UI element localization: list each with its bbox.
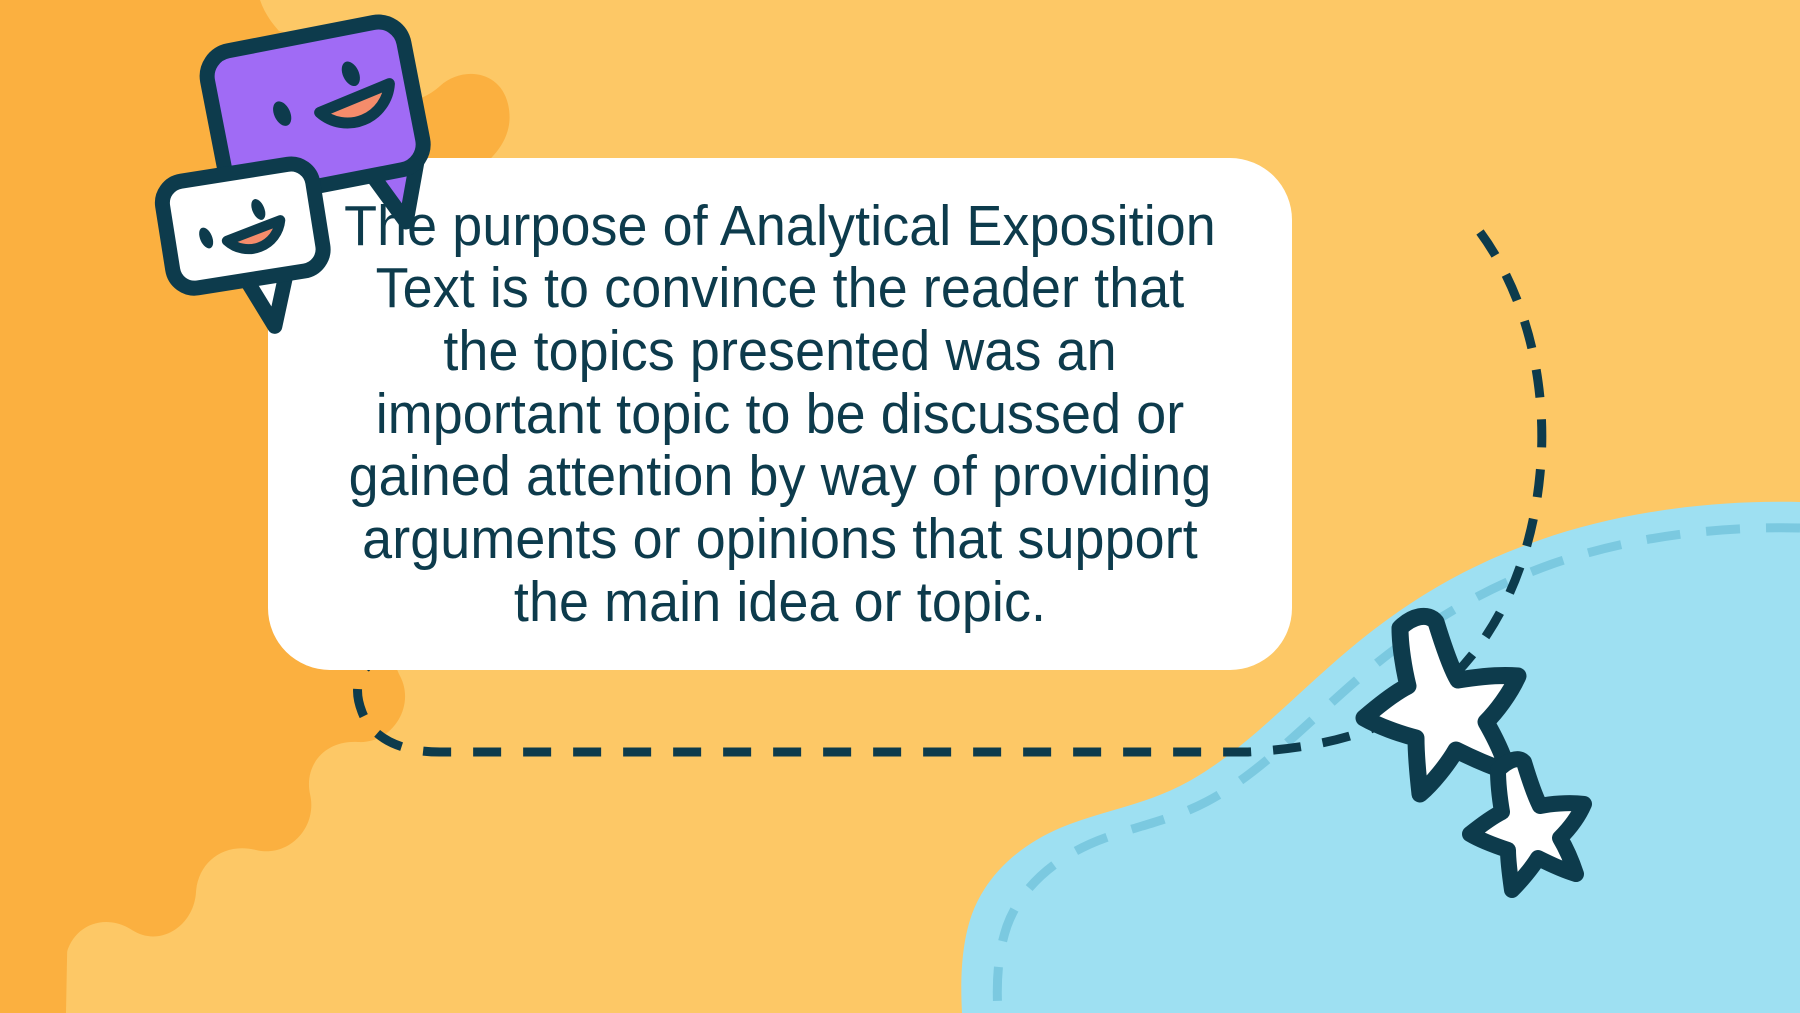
white-bubble-body [159,161,326,291]
speech-bubbles-layer [0,0,1800,1013]
slide-canvas: The purpose of Analytical Exposition Tex… [0,0,1800,1013]
white-speech-bubble [159,161,334,341]
